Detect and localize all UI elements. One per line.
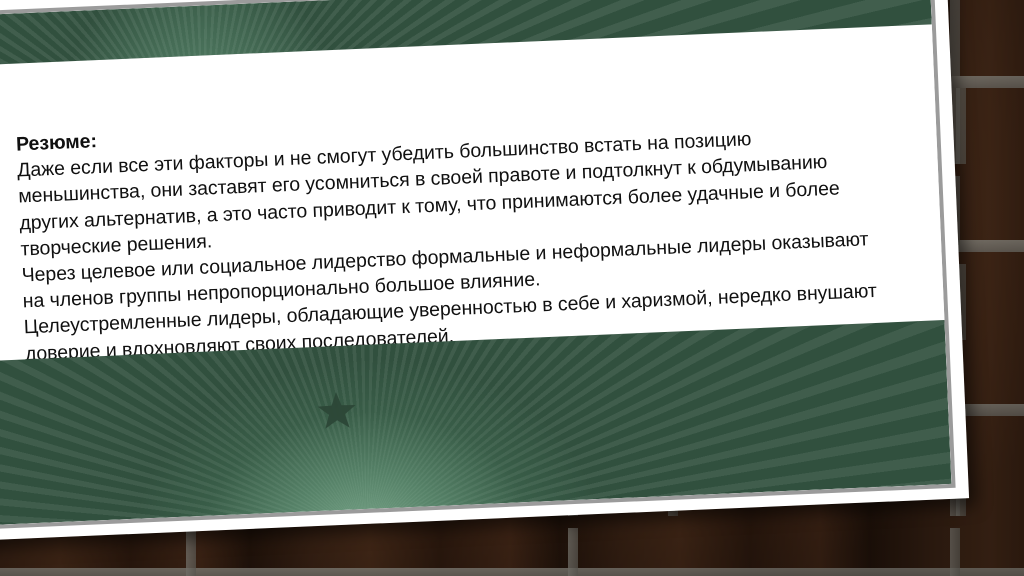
light-rays-top (0, 0, 932, 66)
slide-body-text: Резюме: Даже если все эти факторы и не с… (16, 95, 890, 368)
slide-content-area: Резюме: Даже если все эти факторы и не с… (0, 0, 951, 526)
slide-stage: Резюме: Даже если все эти факторы и не с… (0, 0, 1024, 576)
presentation-slide[interactable]: Резюме: Даже если все эти факторы и не с… (0, 0, 969, 541)
slide-top-green-band (0, 0, 932, 66)
